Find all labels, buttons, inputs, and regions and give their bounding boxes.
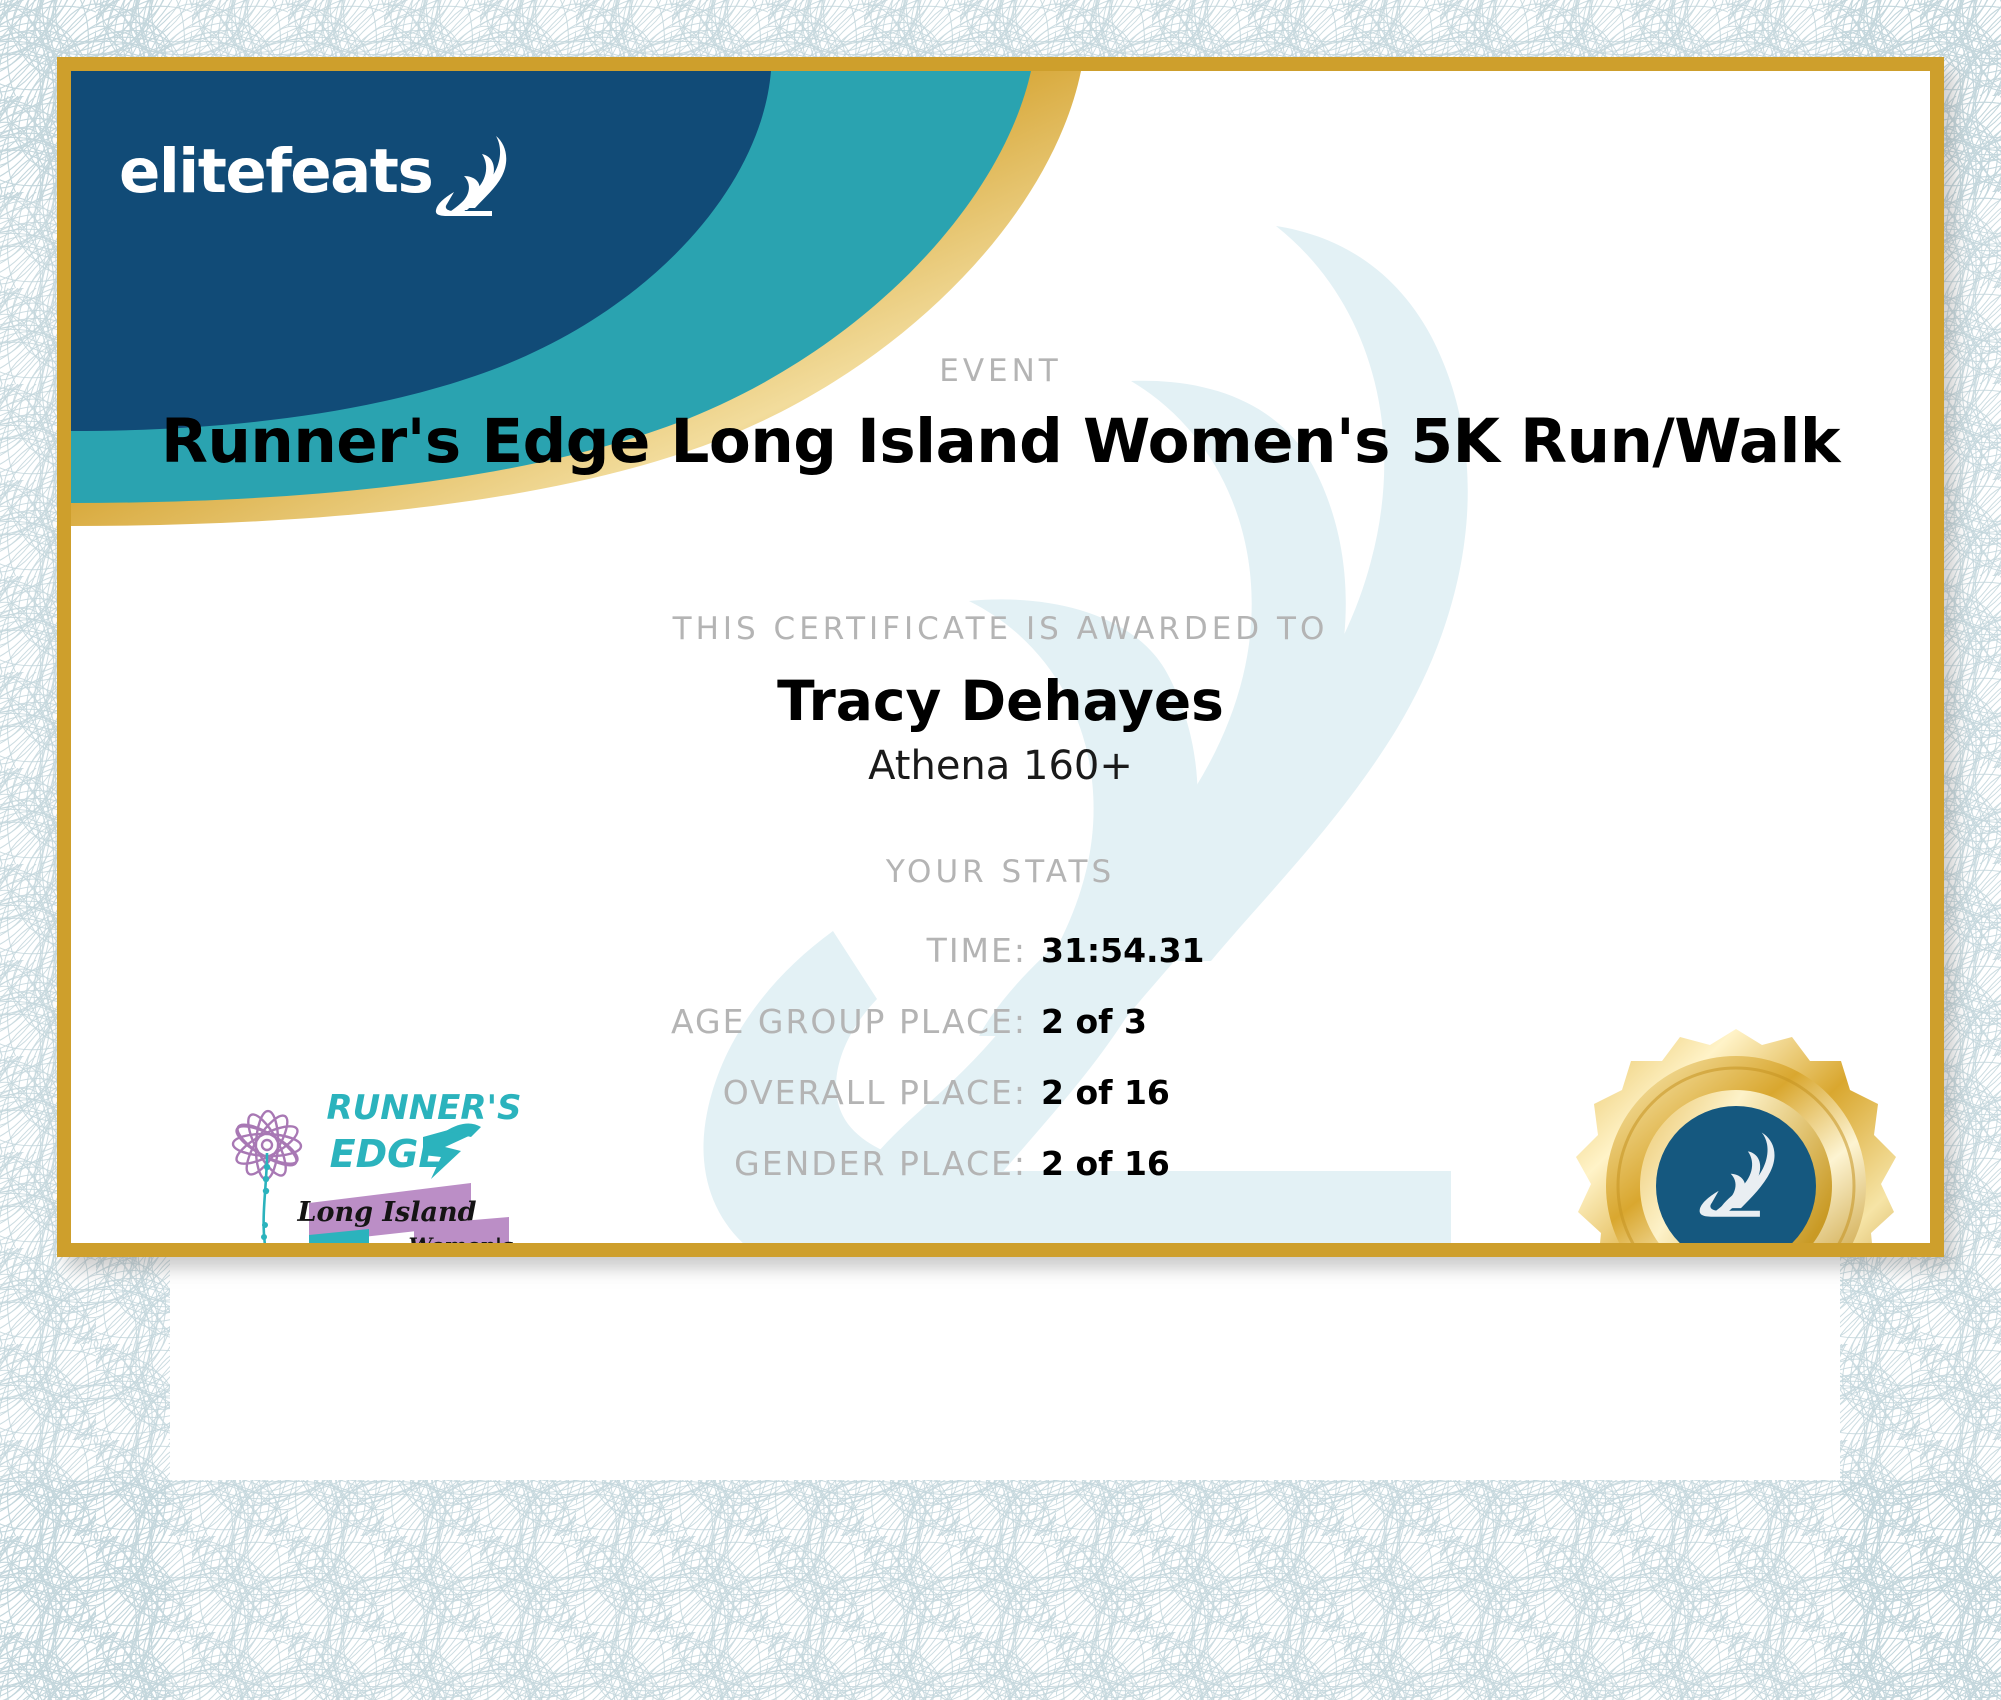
race-logo-line1: RUNNER'S <box>326 1088 521 1128</box>
stat-value: 2 of 16 <box>1041 1073 1231 1112</box>
stat-key: GENDER PLACE: <box>734 1144 1027 1183</box>
stat-key: AGE GROUP PLACE: <box>671 1002 1027 1041</box>
race-event-logo: RUNNER'S EDGE Long Island Women's 5K 202… <box>209 1075 599 1243</box>
elitefeats-wordmark: elitefeats <box>119 141 432 202</box>
your-stats-label: YOUR STATS <box>71 854 1930 890</box>
stat-value: 2 of 3 <box>1041 1002 1231 1041</box>
stat-row: AGE GROUP PLACE: 2 of 3 <box>71 1002 1231 1041</box>
recipient-division: Athena 160+ <box>71 743 1930 789</box>
race-logo-banner-womens: Women's <box>409 1233 514 1243</box>
elitefeats-logo: elitefeats <box>119 126 512 216</box>
stat-row: TIME: 31:54.31 <box>71 931 1231 970</box>
event-title: Runner's Edge Long Island Women's 5K Run… <box>71 406 1930 477</box>
awarded-to-label: THIS CERTIFICATE IS AWARDED TO <box>71 611 1930 647</box>
finisher-medal: 2024 <box>1526 1011 1930 1243</box>
winged-foot-icon <box>434 132 512 216</box>
stat-key: OVERALL PLACE: <box>723 1073 1027 1112</box>
stat-value: 31:54.31 <box>1041 931 1231 970</box>
stat-value: 2 of 16 <box>1041 1144 1231 1183</box>
event-label: EVENT <box>71 353 1930 389</box>
certificate-card: elitefeats EVENT Runner's Edge Long Isla… <box>57 57 1944 1257</box>
recipient-name: Tracy Dehayes <box>71 669 1930 733</box>
stat-key: TIME: <box>927 931 1027 970</box>
